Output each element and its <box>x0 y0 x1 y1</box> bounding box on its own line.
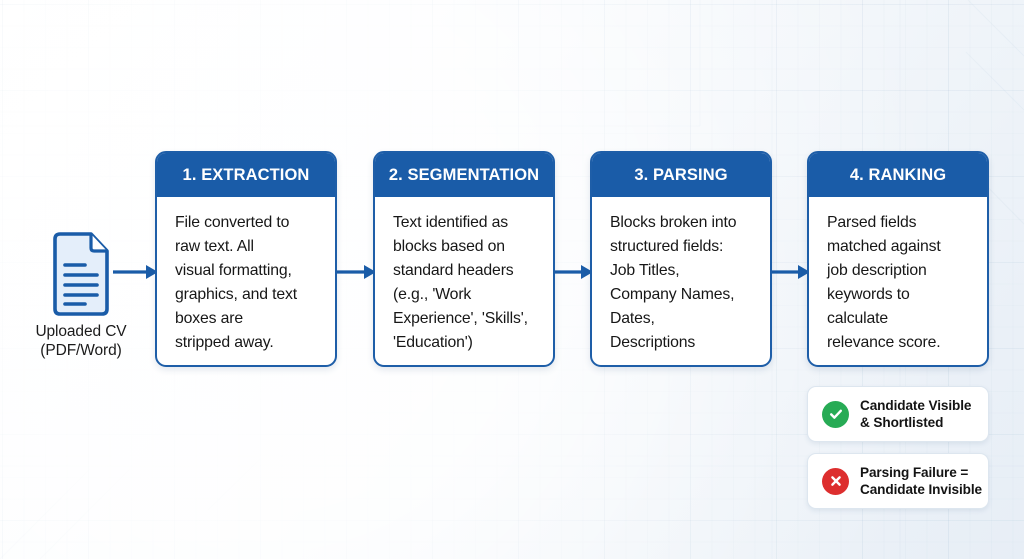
stage-title-segmentation: 2. SEGMENTATION <box>375 153 553 197</box>
legend-label-failure: Parsing Failure = Candidate Invisible <box>860 464 982 498</box>
stage-body-parsing: Blocks broken into structured fields: Jo… <box>592 197 770 365</box>
arrow-parsing-to-ranking <box>769 261 811 283</box>
uploaded-cv-label-line1: Uploaded CV <box>10 322 152 341</box>
stage-title-parsing: 3. PARSING <box>592 153 770 197</box>
stage-card-extraction: 1. EXTRACTION File converted to raw text… <box>155 151 337 367</box>
stage-body-segmentation: Text identified as blocks based on stand… <box>375 197 553 365</box>
legend-label-success: Candidate Visible & Shortlisted <box>860 397 971 431</box>
stage-title-extraction: 1. EXTRACTION <box>157 153 335 197</box>
arrow-segmentation-to-parsing <box>552 261 594 283</box>
stage-body-ranking: Parsed fields matched against job descri… <box>809 197 987 365</box>
stage-body-extraction: File converted to raw text. All visual f… <box>157 197 335 365</box>
legend-card-failure: Parsing Failure = Candidate Invisible <box>807 453 989 509</box>
document-icon <box>49 232 113 316</box>
stage-card-segmentation: 2. SEGMENTATION Text identified as block… <box>373 151 555 367</box>
uploaded-cv-label-line2: (PDF/Word) <box>10 341 152 360</box>
stage-card-parsing: 3. PARSING Blocks broken into structured… <box>590 151 772 367</box>
check-circle-icon <box>822 401 849 428</box>
x-circle-icon <box>822 468 849 495</box>
arrow-extraction-to-segmentation <box>335 261 377 283</box>
stage-card-ranking: 4. RANKING Parsed fields matched against… <box>807 151 989 367</box>
uploaded-cv-source: Uploaded CV (PDF/Word) <box>10 232 152 360</box>
stage-title-ranking: 4. RANKING <box>809 153 987 197</box>
legend-card-success: Candidate Visible & Shortlisted <box>807 386 989 442</box>
diagram-canvas: Uploaded CV (PDF/Word) 1. EXTRACTION Fil… <box>0 0 1024 559</box>
